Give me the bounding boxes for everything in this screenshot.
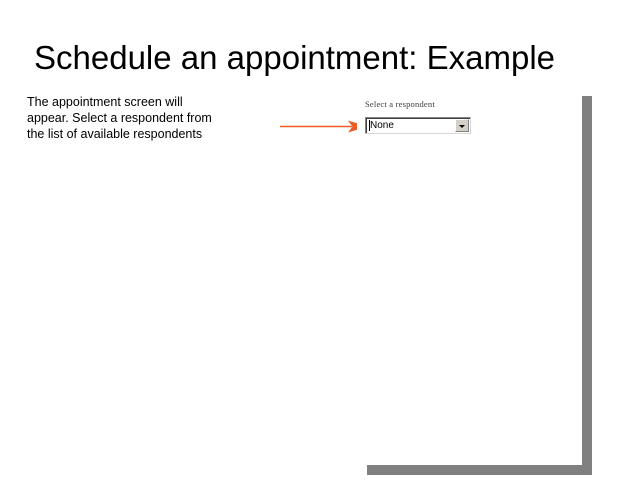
respondent-select[interactable]: None bbox=[365, 117, 471, 134]
body-text-line: appear. Select a respondent from bbox=[27, 110, 257, 126]
body-text-block: The appointment screen will appear. Sele… bbox=[27, 94, 257, 142]
respondent-dropdown-group: Select a respondent None bbox=[365, 99, 473, 134]
chevron-down-glyph bbox=[459, 125, 465, 128]
body-text-line: The appointment screen will bbox=[27, 94, 257, 110]
slide-canvas: Schedule an appointment: Example The app… bbox=[0, 0, 640, 480]
screenshot-shadow-bottom bbox=[367, 465, 582, 475]
embedded-screenshot bbox=[357, 90, 587, 470]
body-text-line: the list of available respondents bbox=[27, 126, 257, 142]
chevron-down-icon[interactable] bbox=[455, 119, 469, 132]
screenshot-shadow-right bbox=[582, 96, 592, 475]
respondent-dropdown-label: Select a respondent bbox=[365, 99, 473, 109]
page-title: Schedule an appointment: Example bbox=[34, 38, 606, 78]
respondent-select-value: None bbox=[370, 120, 394, 132]
